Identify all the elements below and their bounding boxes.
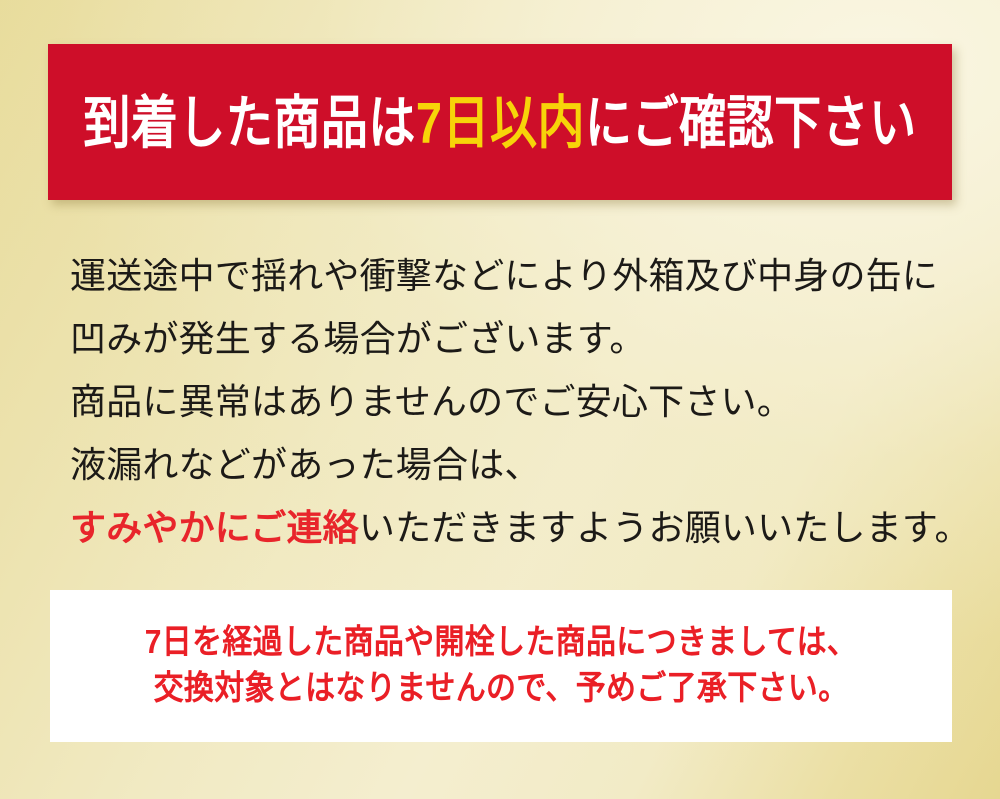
exclusion-notice-box: 7日を経過した商品や開栓した商品につきましては、 交換対象とはなりませんので、予…: [50, 590, 952, 742]
headline-banner-text: 到着した商品は7日以内にご確認下さい: [83, 93, 916, 150]
body-line-2: 凹みが発生する場合がございます。: [70, 307, 960, 370]
headline-text-after: にご確認下さい: [585, 90, 917, 155]
notice-line-2: 交換対象とはなりませんので、予めご了承下さい。: [154, 663, 849, 715]
body-line-3: 商品に異常はありませんのでご安心下さい。: [70, 370, 960, 433]
notice-line-1: 7日を経過した商品や開栓した商品につきましては、: [145, 617, 857, 669]
body-line-5: すみやかにご連絡いただきますようお願いいたします。: [70, 496, 960, 559]
body-line-1: 運送途中で揺れや衝撃などにより外箱及び中身の缶に: [70, 244, 960, 307]
body-line-4: 液漏れなどがあった場合は、: [70, 433, 960, 496]
notice-poster: 到着した商品は7日以内にご確認下さい 運送途中で揺れや衝撃などにより外箱及び中身…: [0, 0, 1000, 799]
body-line-5-rest: いただきますようお願いいたします。: [359, 507, 971, 548]
headline-text-before: 到着した商品は: [83, 90, 416, 155]
body-paragraph: 運送途中で揺れや衝撃などにより外箱及び中身の缶に 凹みが発生する場合がございます…: [70, 244, 960, 559]
headline-banner: 到着した商品は7日以内にご確認下さい: [48, 44, 952, 200]
body-line-5-accent: すみやかにご連絡: [70, 507, 359, 548]
headline-text-highlight: 7日以内: [416, 90, 585, 155]
